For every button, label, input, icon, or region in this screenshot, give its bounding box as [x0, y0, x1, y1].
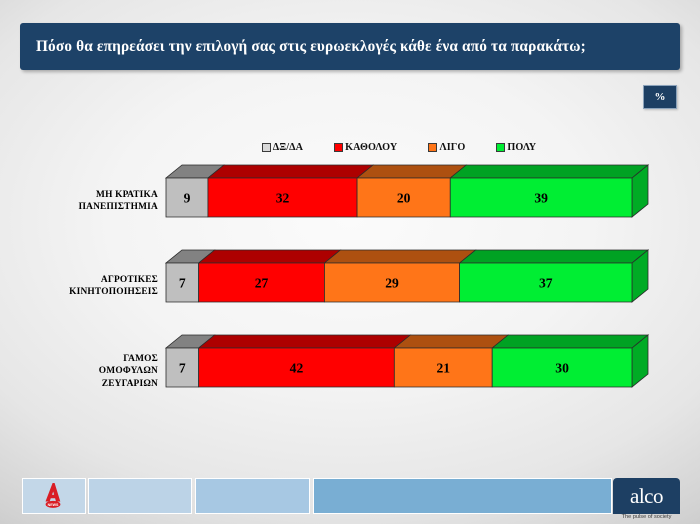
legend-label-1: ΚΑΘΟΛΟΥ [345, 142, 397, 153]
category-label-1: ΑΓΡΟΤΙΚΕΣΚΙΝΗΤΟΠΟΙΗΣΕΙΣ [18, 274, 158, 299]
bar-segment-0-0 [166, 178, 208, 217]
bar-top-face-2-2 [394, 335, 508, 348]
footer-segment-3 [313, 478, 612, 514]
bar-value-label-1-1: 27 [255, 276, 269, 291]
bar-value-label-0-2: 20 [397, 191, 411, 206]
bar-segment-2-2 [394, 348, 492, 387]
legend-swatch-katholou-icon [334, 143, 343, 152]
bar-segment-2-0 [166, 348, 199, 387]
bar-value-label-2-2: 21 [436, 361, 450, 376]
slide-canvas: Πόσο θα επηρεάσει την επιλογή σας στις ε… [0, 0, 700, 524]
bar-top-face-0-2 [357, 165, 466, 178]
legend-item-0[interactable]: ΔΞ/ΔΑ [262, 142, 303, 153]
bar-top-face-1-0 [166, 250, 215, 263]
bar-segment-1-1 [199, 263, 325, 302]
bar-segment-2-3 [492, 348, 632, 387]
bar-top-face-1-2 [324, 250, 475, 263]
footer-segment-2 [195, 478, 310, 514]
bar-top-face-0-0 [166, 165, 224, 178]
bar-value-label-0-1: 32 [276, 191, 290, 206]
bar-value-label-2-0: 7 [179, 361, 186, 376]
legend-label-2: ΛΙΓΟ [439, 142, 465, 153]
alco-logo: alco [613, 478, 680, 514]
bar-value-label-1-0: 7 [179, 276, 186, 291]
percent-unit-label: % [655, 91, 666, 103]
category-label-0-line-1: ΠΑΝΕΠΙΣΤΗΜΙΑ [18, 201, 158, 213]
legend-label-0: ΔΞ/ΔΑ [273, 142, 303, 153]
percent-unit-badge: % [643, 85, 677, 109]
bar-value-label-1-3: 37 [539, 276, 553, 291]
bar-value-label-2-3: 30 [555, 361, 569, 376]
page-title: Πόσο θα επηρεάσει την επιλογή σας στις ε… [20, 38, 586, 56]
bar-segment-0-3 [450, 178, 632, 217]
legend-swatch-poly-icon [496, 143, 505, 152]
bar-top-face-1-3 [460, 250, 648, 263]
footer-strip [0, 478, 700, 514]
category-label-2-line-0: ΓΑΜΟΣ [18, 353, 158, 365]
bar-top-face-2-0 [166, 335, 215, 348]
bar-side-face-1 [632, 250, 648, 302]
category-label-2-line-2: ΖΕΥΓΑΡΙΩΝ [18, 378, 158, 390]
bar-segment-1-3 [460, 263, 632, 302]
chart-legend: ΔΞ/ΔΑ ΚΑΘΟΛΟΥ ΛΙΓΟ ΠΟΛΥ [166, 139, 632, 155]
category-label-0-line-0: ΜΗ ΚΡΑΤΙΚΑ [18, 189, 158, 201]
legend-item-3[interactable]: ΠΟΛΥ [496, 142, 536, 153]
title-banner: Πόσο θα επηρεάσει την επιλογή σας στις ε… [20, 23, 680, 70]
bar-value-label-2-1: 42 [290, 361, 304, 376]
category-label-1-line-1: ΚΙΝΗΤΟΠΟΙΗΣΕΙΣ [18, 286, 158, 298]
category-label-1-line-0: ΑΓΡΟΤΙΚΕΣ [18, 274, 158, 286]
bar-segment-0-2 [357, 178, 450, 217]
alco-brand-word: alco [630, 486, 663, 507]
legend-swatch-dxda-icon [262, 143, 271, 152]
bar-segment-0-1 [208, 178, 357, 217]
bar-side-face-2 [632, 335, 648, 387]
legend-label-3: ΠΟΛΥ [507, 142, 536, 153]
stacked-bar-chart: 932203972729377422130 [0, 0, 700, 524]
bar-segment-1-0 [166, 263, 199, 302]
alco-tagline: The pulse of society [613, 514, 680, 520]
bar-value-label-0-3: 39 [534, 191, 548, 206]
category-label-2: ΓΑΜΟΣΟΜΟΦΥΛΩΝΖΕΥΓΑΡΙΩΝ [18, 353, 158, 390]
bar-top-face-2-1 [199, 335, 411, 348]
bar-value-label-1-2: 29 [385, 276, 399, 291]
bar-top-face-2-3 [492, 335, 648, 348]
legend-item-2[interactable]: ΛΙΓΟ [428, 142, 465, 153]
bar-segment-2-1 [199, 348, 395, 387]
svg-text:NEWS: NEWS [48, 503, 59, 507]
legend-item-1[interactable]: ΚΑΘΟΛΟΥ [334, 142, 397, 153]
legend-swatch-ligo-icon [428, 143, 437, 152]
bar-top-face-0-3 [450, 165, 648, 178]
alpha-news-logo-icon: NEWS [38, 481, 68, 511]
bar-side-face-0 [632, 165, 648, 217]
bar-top-face-0-1 [208, 165, 373, 178]
footer-segment-1 [88, 478, 192, 514]
category-label-2-line-1: ΟΜΟΦΥΛΩΝ [18, 365, 158, 377]
bar-value-label-0-0: 9 [184, 191, 191, 206]
category-label-0: ΜΗ ΚΡΑΤΙΚΑΠΑΝΕΠΙΣΤΗΜΙΑ [18, 189, 158, 214]
bar-segment-1-2 [324, 263, 459, 302]
bar-top-face-1-1 [199, 250, 341, 263]
